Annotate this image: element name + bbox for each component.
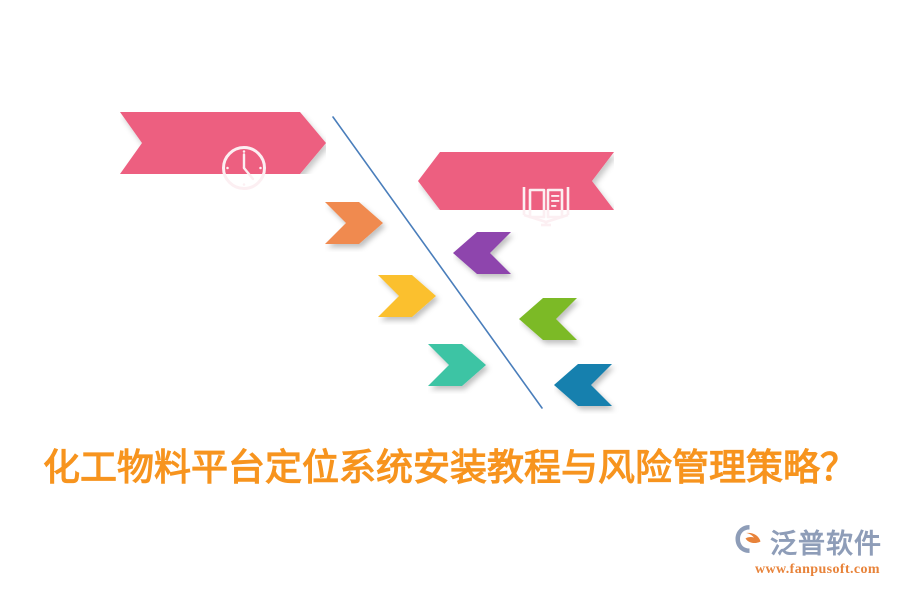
chevron-right-icon [325, 202, 383, 244]
brand-url: www.fanpusoft.com [755, 562, 880, 578]
chevron-left-icon [453, 232, 511, 274]
brand-name: 泛普软件 [770, 522, 882, 561]
page-title: 化工物料平台定位系统安装教程与风险管理策略？ [0, 447, 900, 490]
chevron-blue [554, 364, 622, 419]
chevron-orange [325, 202, 393, 257]
chevron-left-icon [519, 298, 577, 340]
clock-banner [120, 112, 326, 174]
fanpu-logo-icon [734, 524, 766, 559]
chevron-green [519, 298, 587, 353]
brand-logo: 泛普软件 www.fanpusoft.com [734, 522, 882, 578]
diagonal-divider-line [0, 0, 900, 600]
chevron-right-icon [378, 275, 436, 317]
chevron-right-icon [428, 344, 486, 386]
chevron-left-icon [554, 364, 612, 406]
poster-canvas: 化工物料平台定位系统安装教程与风险管理策略？ 泛普软件 www.fanpusof… [0, 0, 900, 600]
brand-logo-row: 泛普软件 [734, 522, 882, 561]
chevron-teal [428, 344, 496, 399]
chevron-yellow [378, 275, 446, 330]
book-banner [418, 152, 614, 210]
chevron-purple [453, 232, 521, 287]
book-banner-shape [418, 152, 614, 210]
